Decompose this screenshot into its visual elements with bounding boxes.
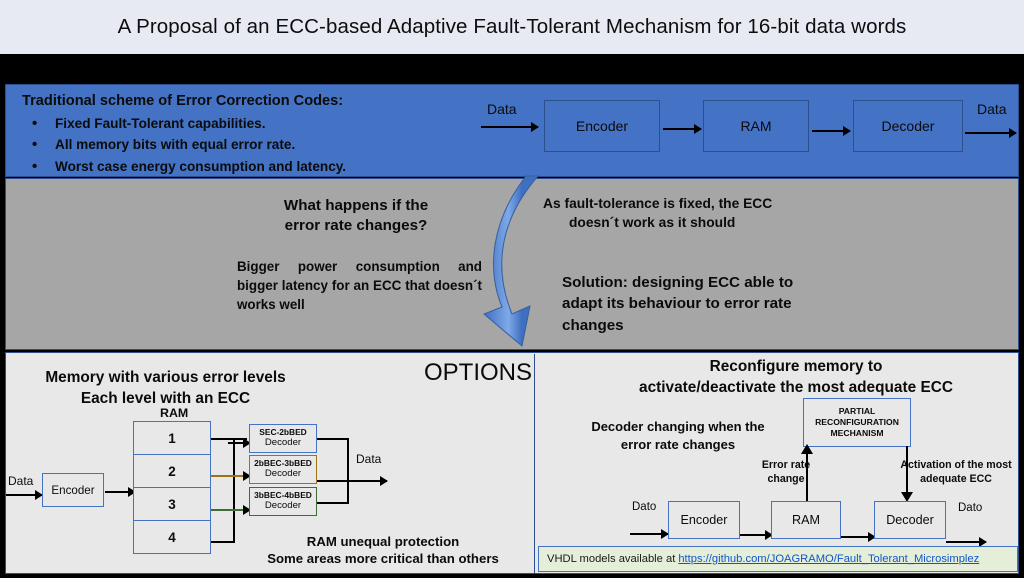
page-title: A Proposal of an ECC-based Adaptive Faul…: [118, 15, 907, 39]
connector-line: [347, 438, 349, 504]
traditional-heading: Traditional scheme of Error Correction C…: [22, 92, 492, 112]
question-line-1: What happens if the: [284, 197, 428, 214]
arrow-icon-green: [211, 509, 250, 511]
list-item: All memory bits with equal error rate.: [22, 134, 492, 155]
activation-label: Activation of the most adequate ECC: [896, 458, 1016, 487]
arrow-icon: [812, 130, 850, 132]
ram-stack: 1 2 3 4: [133, 421, 211, 557]
connector-line: [211, 541, 235, 543]
ram-cell: 1: [133, 421, 211, 455]
protection-note-line-2: Some areas more critical than others: [267, 551, 499, 566]
left-option-heading: Memory with various error levels Each le…: [18, 368, 313, 409]
traditional-text-block: Traditional scheme of Error Correction C…: [22, 92, 492, 177]
ram-cell: 2: [133, 454, 211, 488]
connector-line: [211, 438, 247, 440]
left-heading-line-2: Each level with an ECC: [81, 390, 250, 407]
activation-line-2: adequate ECC: [920, 473, 992, 485]
prm-line-2: RECONFIGURATION: [815, 417, 899, 428]
consequence-text: Bigger power consumption and bigger late…: [237, 257, 482, 314]
arrow-icon: [841, 536, 875, 538]
right-input-label: Dato: [632, 501, 656, 513]
error-rate-line-1: Error rate: [762, 459, 810, 471]
error-rate-line-2: change: [767, 473, 804, 485]
problem-statement-panel: What happens if the error rate changes? …: [5, 178, 1019, 350]
left-encoder-label: Encoder: [51, 484, 94, 497]
arrow-icon: [965, 132, 1016, 134]
arrow-icon: [663, 128, 701, 130]
right-ram-label: RAM: [792, 513, 820, 527]
decoder-kind: Decoder: [265, 469, 301, 480]
panel-divider: [534, 354, 535, 574]
decoder-label: Decoder: [882, 118, 935, 134]
right-note-line-2: error rate changes: [621, 437, 735, 452]
right-output-label: Dato: [958, 502, 982, 514]
right-decoder-label: Decoder: [886, 513, 934, 527]
arrow-icon-gold: [211, 475, 250, 477]
flow-output-label: Data: [977, 101, 1007, 117]
right-option-heading: Reconfigure memory to activate/deactivat…: [576, 357, 1016, 399]
ram-cell: 3: [133, 487, 211, 521]
decoder-box: Decoder: [853, 100, 963, 152]
arrow-icon: [946, 541, 986, 543]
flow-input-label: Data: [487, 101, 517, 117]
options-title: OPTIONS: [424, 359, 532, 387]
left-protection-note: RAM unequal protection Some areas more c…: [238, 533, 528, 568]
connector-line: [317, 502, 349, 504]
arrow-icon: [317, 480, 387, 482]
right-ram-box: RAM: [771, 501, 841, 539]
question-line-2: error rate changes?: [285, 217, 428, 234]
decoder-kind: Decoder: [265, 438, 301, 449]
right-encoder-label: Encoder: [681, 513, 728, 527]
arrow-icon: [740, 534, 772, 536]
activation-line-1: Activation of the most: [900, 459, 1011, 471]
arrow-up-icon: [800, 444, 814, 454]
right-note-line-1: Decoder changing when the: [591, 419, 764, 434]
right-heading-line-2: activate/deactivate the most adequate EC…: [639, 379, 953, 396]
solution-text: Solution: designing ECC able to adapt it…: [562, 272, 837, 336]
arrow-icon: [228, 442, 250, 444]
traditional-bullet-list: Fixed Fault-Tolerant capabilities. All m…: [22, 113, 492, 177]
list-item: Worst case energy consumption and latenc…: [22, 156, 492, 177]
question-text: What happens if the error rate changes?: [221, 196, 491, 236]
decoder-kind: Decoder: [265, 501, 301, 512]
decoder-2bbec-3bbed: 2bBEC-3bBED Decoder: [249, 455, 317, 484]
left-ram-label: RAM: [160, 406, 188, 420]
arrow-icon: [630, 533, 668, 535]
left-encoder-box: Encoder: [42, 473, 104, 507]
right-decoder-box: Decoder: [874, 501, 946, 539]
encoder-label: Encoder: [576, 118, 628, 134]
arrow-icon: [105, 491, 135, 493]
slide-poster: A Proposal of an ECC-based Adaptive Faul…: [0, 0, 1024, 578]
list-item: Fixed Fault-Tolerant capabilities.: [22, 113, 492, 134]
prm-line-1: PARTIAL: [839, 406, 876, 417]
fault-tolerance-note: As fault-tolerance is fixed, the ECC doe…: [543, 195, 843, 233]
connector-line: [233, 438, 235, 543]
ram-box: RAM: [703, 100, 809, 152]
left-input-label: Data: [8, 474, 33, 488]
traditional-scheme-panel: Traditional scheme of Error Correction C…: [5, 84, 1019, 177]
decoder-sec-2bbed: SEC-2bBED Decoder: [249, 424, 317, 453]
vhdl-repo-link[interactable]: https://github.com/JOAGRAMO/Fault_Tolera…: [678, 553, 979, 565]
right-heading-line-1: Reconfigure memory to: [710, 358, 883, 375]
encoder-box: Encoder: [544, 100, 660, 152]
vhdl-prefix-label: VHDL models available at: [547, 553, 675, 565]
partial-reconfiguration-mechanism-box: PARTIAL RECONFIGURATION MECHANISM: [803, 398, 911, 447]
prm-line-3: MECHANISM: [831, 428, 884, 439]
title-band: A Proposal of an ECC-based Adaptive Faul…: [0, 0, 1024, 54]
ram-label: RAM: [740, 118, 771, 134]
decoder-3bbec-4bbed: 3bBEC-4bBED Decoder: [249, 487, 317, 516]
arrow-icon: [481, 126, 538, 128]
ram-cell: 4: [133, 520, 211, 554]
protection-note-line-1: RAM unequal protection: [307, 534, 459, 549]
fault-tolerance-note-line-2: doesn´t work as it should: [543, 214, 843, 233]
right-decoder-note: Decoder changing when the error rate cha…: [578, 418, 778, 454]
curved-arrow-icon: [476, 174, 586, 349]
left-heading-line-1: Memory with various error levels: [45, 369, 285, 386]
vhdl-link-bar[interactable]: VHDL models available at https://github.…: [538, 546, 1018, 572]
left-output-label: Data: [356, 452, 381, 466]
connector-line: [317, 438, 349, 440]
right-encoder-box: Encoder: [668, 501, 740, 539]
error-rate-change-label: Error rate change: [748, 458, 824, 487]
arrow-icon: [6, 494, 42, 496]
